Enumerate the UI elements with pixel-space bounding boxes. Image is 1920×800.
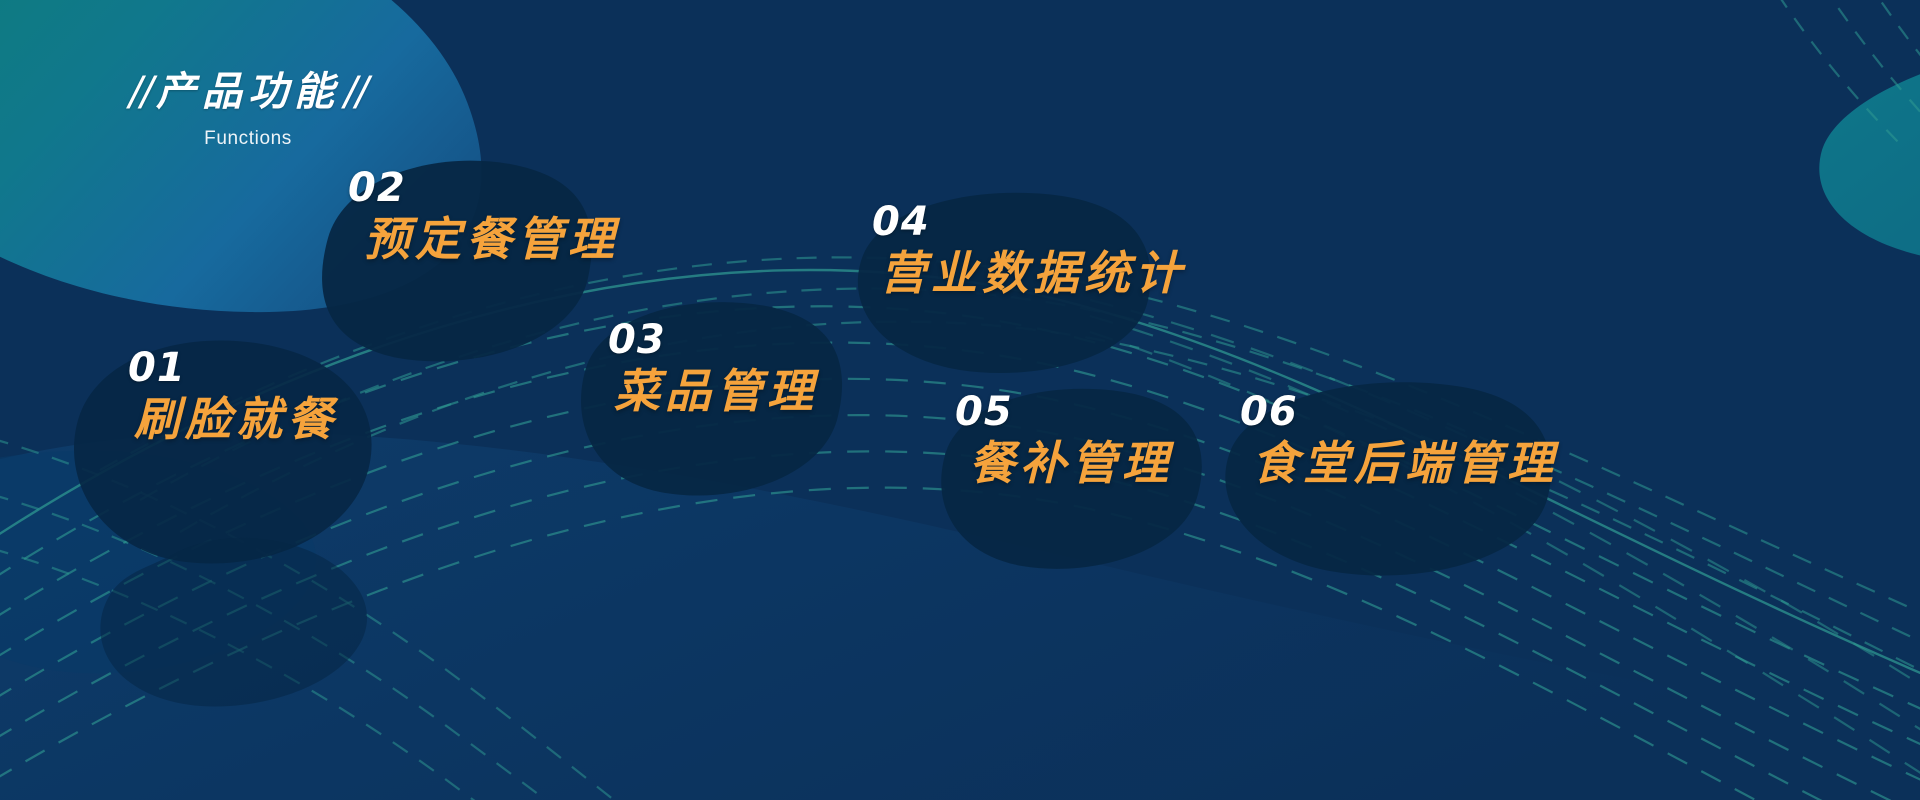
function-label-02: 预定餐管理 (364, 214, 619, 266)
slide-header: //产品功能// Functions (88, 70, 408, 150)
function-item-06[interactable]: 06 食堂后端管理 (1240, 392, 1558, 490)
function-label-05: 餐补管理 (969, 438, 1173, 490)
function-item-01[interactable]: 01 刷脸就餐 (128, 348, 338, 446)
function-label-03: 菜品管理 (614, 366, 818, 418)
page-title: //产品功能// (88, 70, 408, 114)
function-label-01: 刷脸就餐 (134, 394, 338, 446)
content-layer: //产品功能// Functions 01 刷脸就餐 02 预定餐管理 03 菜… (0, 0, 1920, 800)
function-label-06: 食堂后端管理 (1252, 438, 1558, 490)
function-item-05[interactable]: 05 餐补管理 (955, 392, 1173, 490)
slide-canvas: //产品功能// Functions 01 刷脸就餐 02 预定餐管理 03 菜… (0, 0, 1920, 800)
function-item-03[interactable]: 03 菜品管理 (608, 320, 818, 418)
function-number-06: 06 (1240, 392, 1558, 432)
slash-right-icon: // (340, 69, 371, 115)
function-number-04: 04 (872, 202, 1186, 242)
page-title-text: 产品功能 (156, 69, 340, 115)
function-number-05: 05 (955, 392, 1173, 432)
page-subtitle: Functions (88, 128, 408, 150)
function-number-02: 02 (348, 168, 619, 208)
slash-left-icon: // (125, 69, 156, 115)
function-item-02[interactable]: 02 预定餐管理 (348, 168, 619, 266)
function-label-04: 营业数据统计 (880, 248, 1186, 300)
function-number-03: 03 (608, 320, 818, 360)
function-item-04[interactable]: 04 营业数据统计 (872, 202, 1186, 300)
function-number-01: 01 (128, 348, 338, 388)
